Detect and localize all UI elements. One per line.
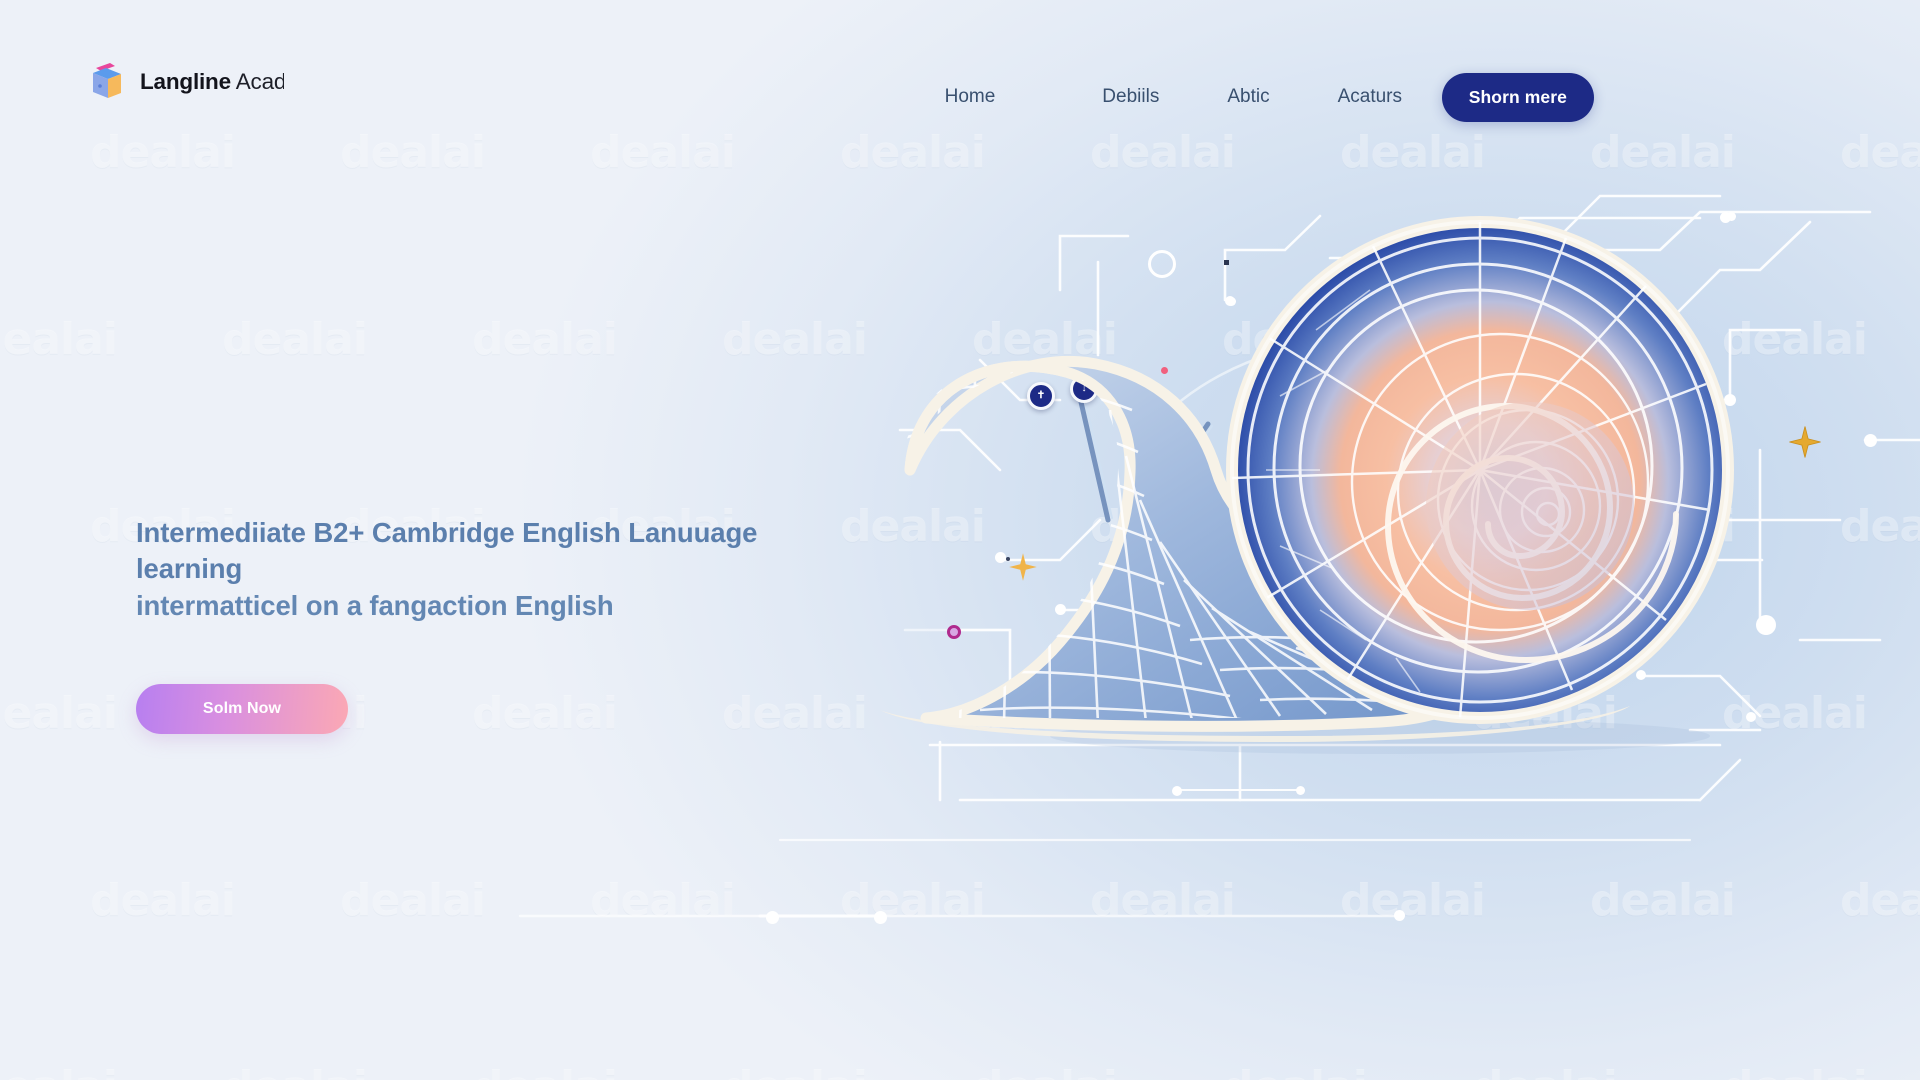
watermark-text: dealai xyxy=(1340,875,1485,926)
brand-name-bold: Langline xyxy=(140,69,231,94)
nav-item-abtic[interactable]: Abtic xyxy=(1217,80,1279,114)
watermark-text: dealai xyxy=(90,875,235,926)
watermark-text: dealai xyxy=(222,314,367,365)
watermark-text: dealai xyxy=(1590,875,1735,926)
site-header: Langline Acadm Home Debiils Abtic Acatur… xyxy=(0,0,1920,155)
brand-name: Langline Acadm xyxy=(140,69,284,95)
page-background: dealaidealaidealaidealaidealaidealaideal… xyxy=(0,0,1920,1080)
watermark-text: dealai xyxy=(722,1062,867,1080)
headline-line-2: intermatticel on a fangaction English xyxy=(136,590,614,621)
circuit-node xyxy=(1394,910,1405,921)
header-cta-button[interactable]: Shorn mere xyxy=(1442,73,1594,122)
watermark-text: dealai xyxy=(840,875,985,926)
main-navigation: Home Debiils Abtic Acaturs xyxy=(935,80,1412,114)
page-title: Intermediiate B2+ Cambridge English Lanu… xyxy=(136,515,836,624)
hero-primary-button[interactable]: Solm Now xyxy=(136,684,348,734)
nav-item-debiils[interactable]: Debiils xyxy=(1092,80,1169,114)
watermark-text: dealai xyxy=(1722,1062,1867,1080)
wireframe-snail-illustration xyxy=(760,170,1860,810)
watermark-text: dealai xyxy=(1840,875,1920,926)
watermark-text: dealai xyxy=(590,875,735,926)
watermark-text: dealai xyxy=(340,875,485,926)
circuit-node xyxy=(1864,434,1877,447)
watermark-text: dealai xyxy=(222,1062,367,1080)
watermark-text: dealai xyxy=(0,314,117,365)
cube-box-icon xyxy=(84,60,126,104)
watermark-text: dealai xyxy=(472,314,617,365)
watermark-text: dealai xyxy=(972,1062,1117,1080)
brand-logo[interactable]: Langline Acadm xyxy=(84,60,284,104)
headline-line-1: Intermediiate B2+ Cambridge English Lanu… xyxy=(136,517,757,584)
watermark-text: dealai xyxy=(1472,1062,1617,1080)
brand-name-light: Acadm xyxy=(231,69,284,94)
watermark-text: dealai xyxy=(0,688,117,739)
watermark-text: dealai xyxy=(0,1062,117,1080)
circuit-node xyxy=(874,911,887,924)
circuit-node xyxy=(766,911,779,924)
watermark-text: dealai xyxy=(1090,875,1235,926)
watermark-text: dealai xyxy=(1222,1062,1367,1080)
nav-item-home[interactable]: Home xyxy=(935,80,1006,114)
hero-section: Intermediiate B2+ Cambridge English Lanu… xyxy=(136,515,836,734)
watermark-text: dealai xyxy=(472,1062,617,1080)
nav-item-acaturs[interactable]: Acaturs xyxy=(1328,80,1412,114)
